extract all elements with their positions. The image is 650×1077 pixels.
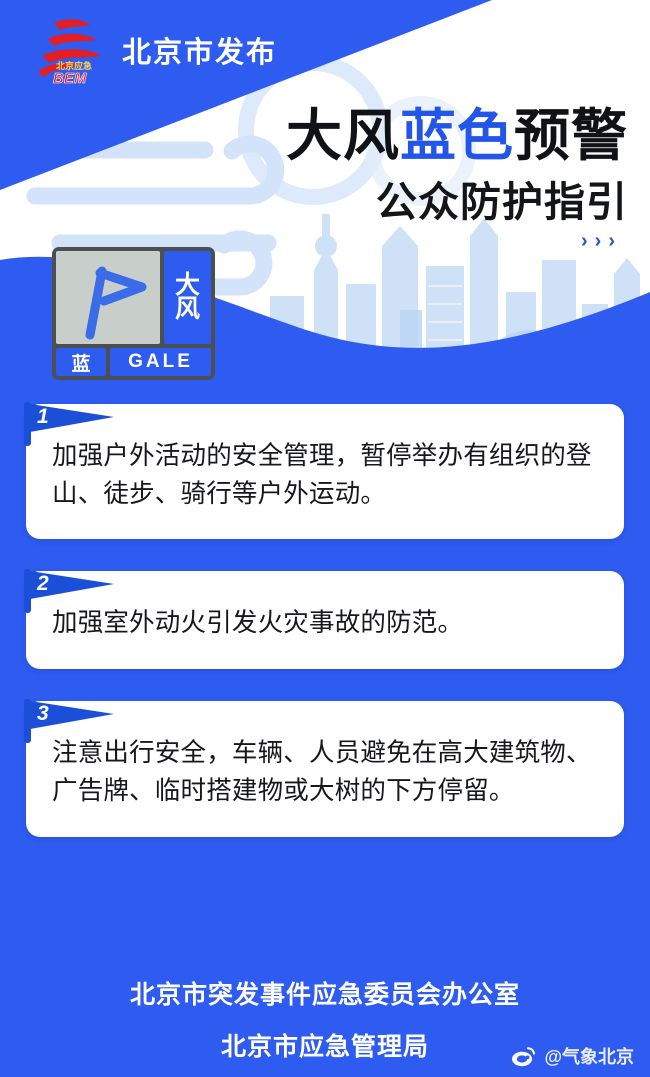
footer-org-1: 北京市突发事件应急委员会办公室 xyxy=(0,947,650,1011)
main-title: 大风蓝色预警 xyxy=(286,106,628,166)
card-text: 加强户外活动的安全管理，暂停举办有组织的登山、徒步、骑行等户外运动。 xyxy=(52,438,598,513)
card-number: 2 xyxy=(37,572,49,596)
brand-header: 北京应急 BEM 北京市发布 xyxy=(0,0,650,100)
gale-warning-signal-icon: 大风 蓝 GALE xyxy=(52,247,215,380)
card-number-flag: 3 xyxy=(24,697,120,743)
signal-level-cn: 蓝 xyxy=(56,348,106,376)
card-number: 3 xyxy=(37,702,49,726)
main-title-part1: 大风 xyxy=(286,104,400,167)
card-number: 1 xyxy=(37,405,49,429)
wind-flag-icon xyxy=(56,251,160,344)
guidance-card: 2 加强室外动火引发火灾事故的防范。 xyxy=(26,571,624,669)
chevron-right-icon: ››› xyxy=(286,230,628,253)
main-title-part3: 预警 xyxy=(514,104,628,167)
card-text: 注意出行安全，车辆、人员避免在高大建筑物、广告牌、临时搭建物或大树的下方停留。 xyxy=(52,735,598,810)
card-number-flag: 1 xyxy=(24,400,120,446)
guidance-card: 3 注意出行安全，车辆、人员避免在高大建筑物、广告牌、临时搭建物或大树的下方停留… xyxy=(26,701,624,836)
weibo-credit[interactable]: @气象北京 xyxy=(511,1043,634,1069)
signal-word-label: 大风 xyxy=(164,251,211,344)
publisher-title: 北京市发布 xyxy=(122,29,277,71)
card-number-flag: 2 xyxy=(24,567,120,613)
weibo-icon xyxy=(511,1045,537,1067)
guidance-card: 1 加强户外活动的安全管理，暂停举办有组织的登山、徒步、骑行等户外运动。 xyxy=(26,404,624,539)
signal-word-text: 大风 xyxy=(164,274,211,322)
bem-logo: 北京应急 BEM xyxy=(26,9,108,91)
weibo-handle: @气象北京 xyxy=(544,1043,634,1069)
card-text: 加强室外动火引发火灾事故的防范。 xyxy=(52,605,598,643)
svg-text:BEM: BEM xyxy=(53,70,87,87)
main-title-highlight: 蓝色 xyxy=(400,104,514,167)
sub-title: 公众防护指引 xyxy=(286,180,628,225)
footer: 北京市突发事件应急委员会办公室 北京市应急管理局 @气象北京 xyxy=(0,947,650,1077)
title-block: 大风蓝色预警 公众防护指引 ››› xyxy=(286,106,628,253)
poster-root: 北京应急 BEM 北京市发布 大风蓝色预警 公众防护指引 ››› 大风 xyxy=(0,0,650,1077)
signal-bottom-row: 蓝 GALE xyxy=(56,348,211,376)
guidance-card-list: 1 加强户外活动的安全管理，暂停举办有组织的登山、徒步、骑行等户外运动。 2 加… xyxy=(0,404,650,869)
signal-level-en: GALE xyxy=(110,348,211,376)
